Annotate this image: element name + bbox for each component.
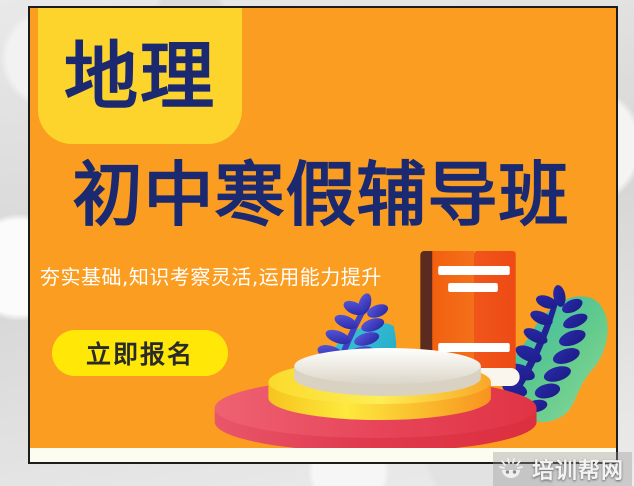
subject-badge-label: 地理 xyxy=(64,40,216,114)
promo-banner: 地理 初中寒假辅导班 夯实基础,知识考察灵活,运用能力提升 立即报名 xyxy=(28,6,618,464)
headline-title: 初中寒假辅导班 xyxy=(30,160,614,230)
banner-canvas: 地理 初中寒假辅导班 夯实基础,知识考察灵活,运用能力提升 立即报名 xyxy=(30,8,616,448)
subtitle-text: 夯实基础,知识考察灵活,运用能力提升 xyxy=(40,261,382,290)
enroll-now-button[interactable]: 立即报名 xyxy=(52,330,228,376)
watermark: 培训帮网 xyxy=(493,452,632,486)
watermark-text: 培训帮网 xyxy=(532,453,624,485)
enroll-now-label: 立即报名 xyxy=(86,335,194,371)
sun-face-logo-icon xyxy=(499,458,525,480)
subject-badge: 地理 xyxy=(38,8,242,144)
